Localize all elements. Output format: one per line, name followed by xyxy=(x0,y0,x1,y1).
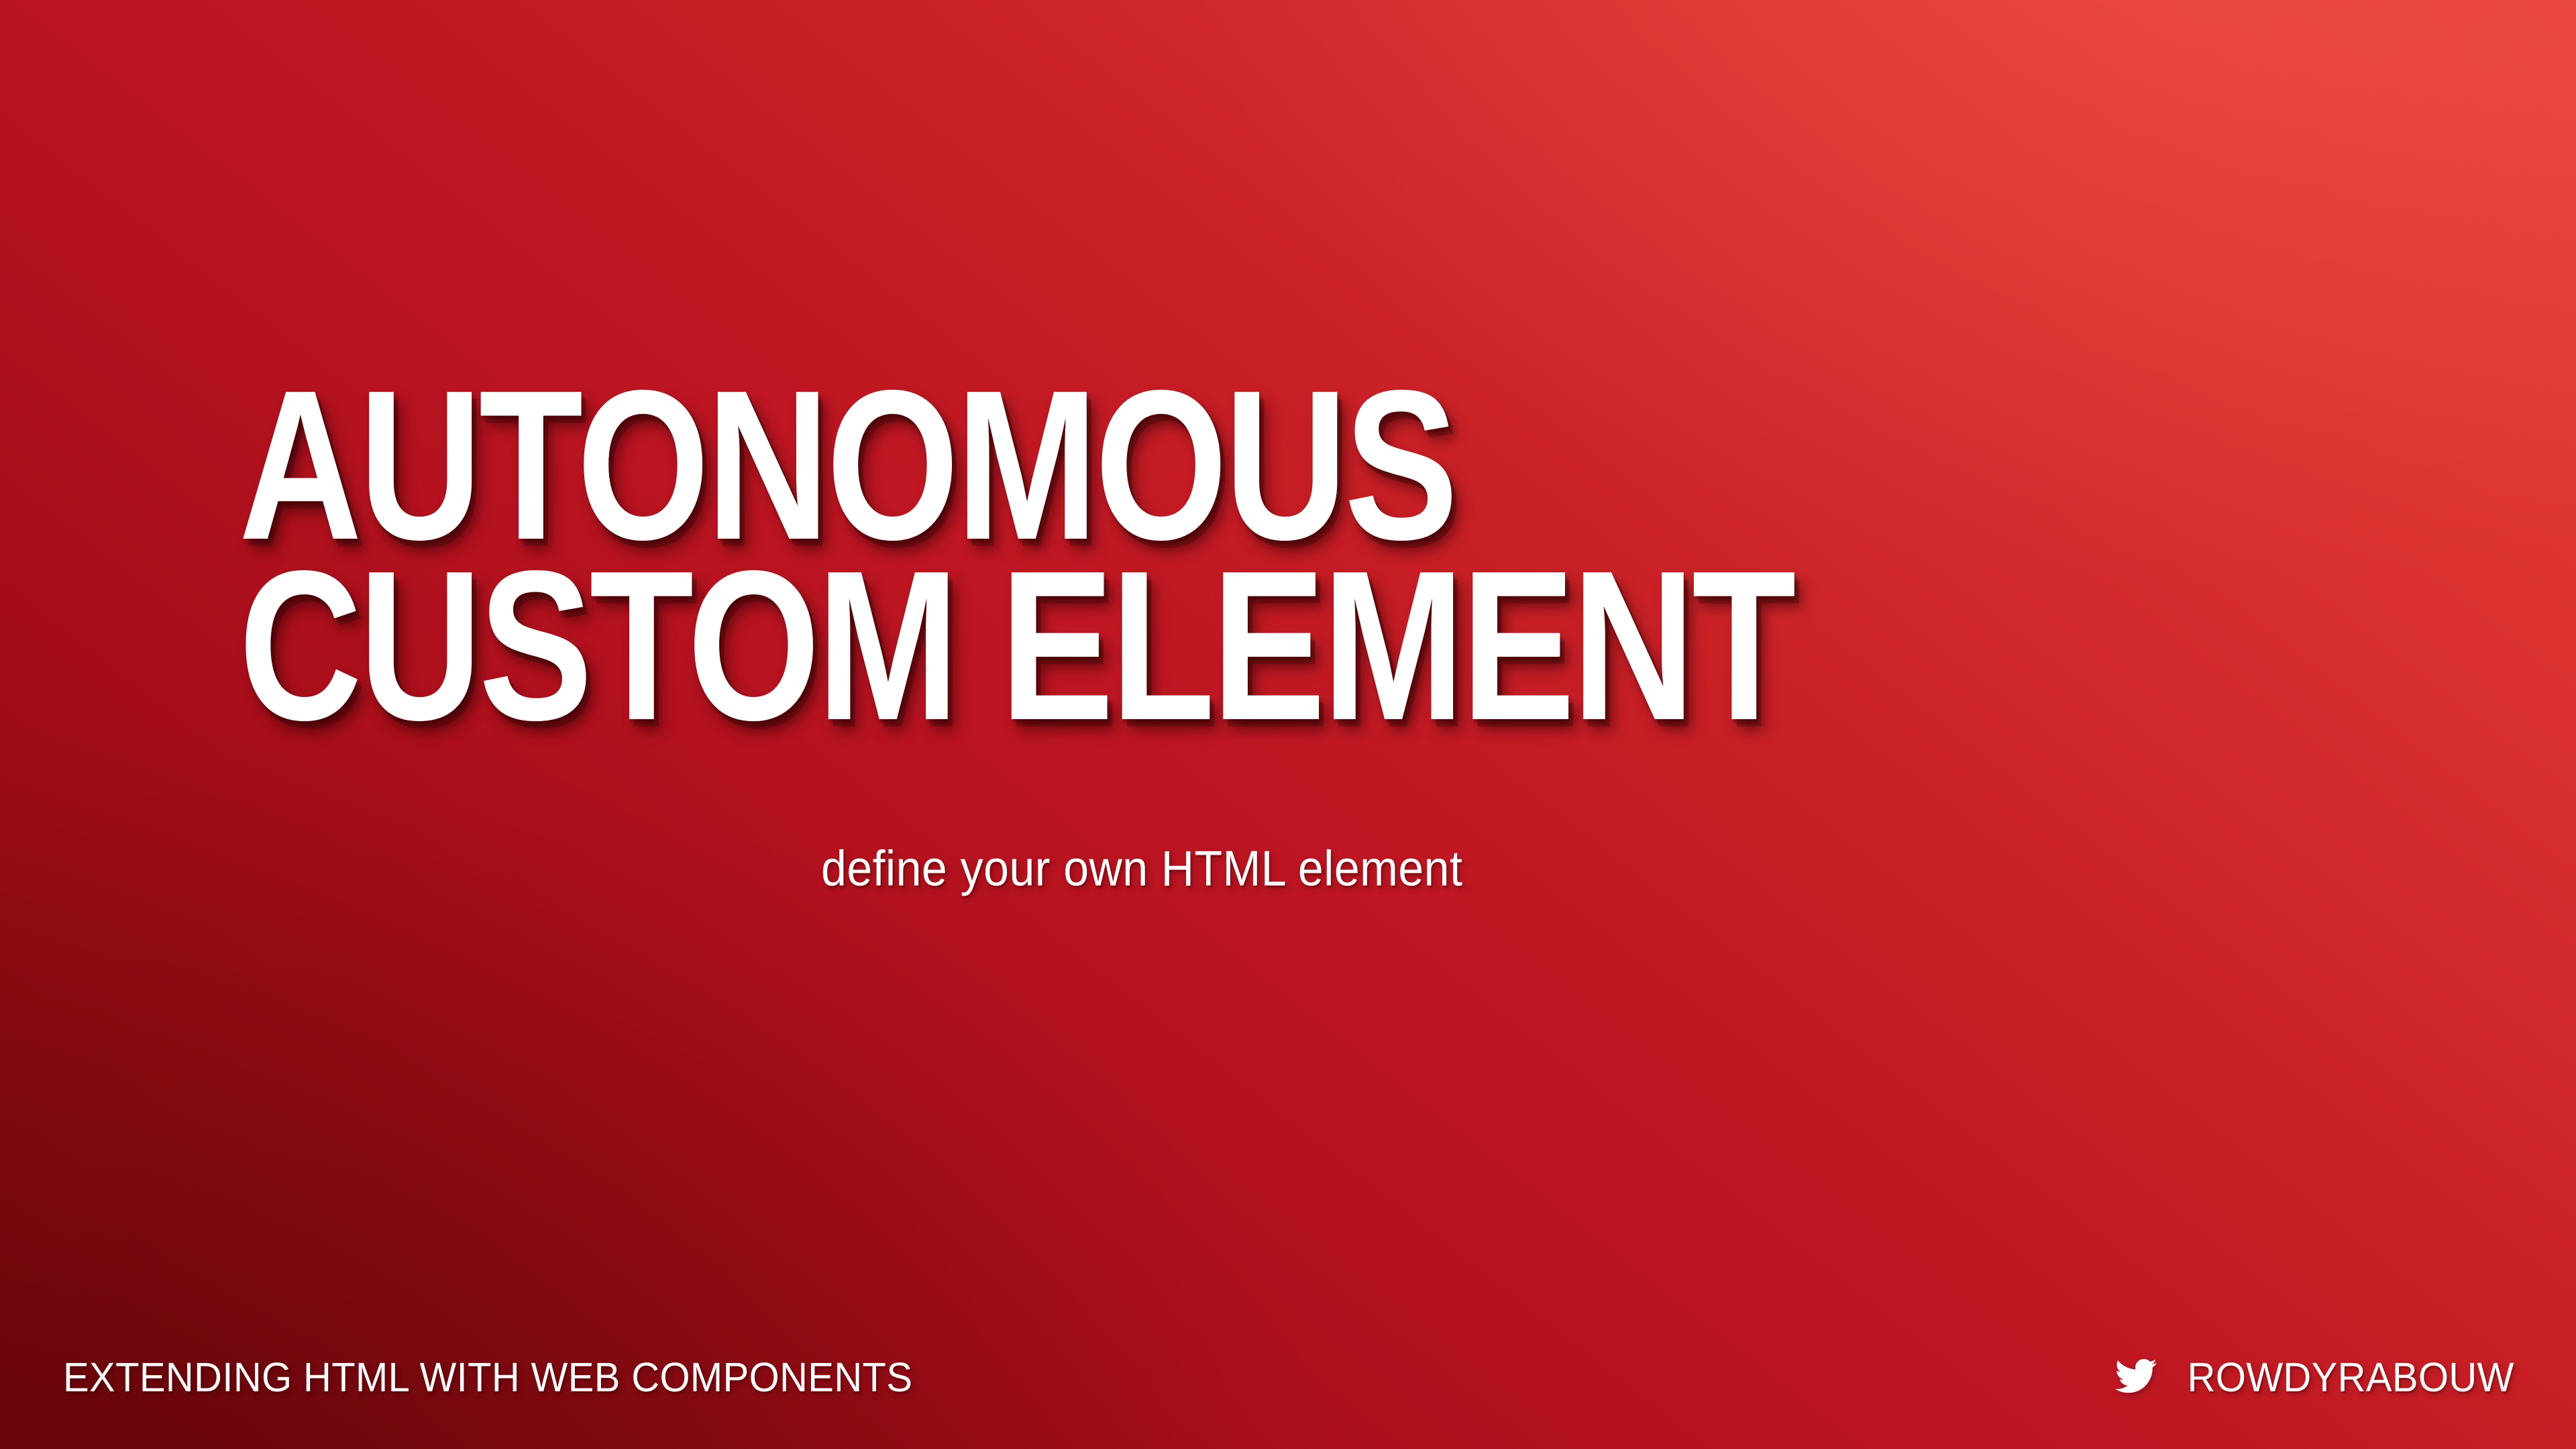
slide-subtitle: define your own HTML element xyxy=(821,840,1462,897)
headline-line-2: CUSTOM ELEMENT xyxy=(239,556,1956,737)
slide-content: AUTONOMOUS CUSTOM ELEMENT define your ow… xyxy=(0,0,2576,1449)
slide-headline: AUTONOMOUS CUSTOM ELEMENT xyxy=(239,376,2385,736)
presentation-slide: AUTONOMOUS CUSTOM ELEMENT define your ow… xyxy=(0,0,2576,1449)
footer-talk-title: EXTENDING HTML WITH WEB COMPONENTS xyxy=(63,1354,912,1401)
twitter-bird-icon xyxy=(2115,1355,2157,1397)
footer-social: ROWDYRABOUW xyxy=(2115,1354,2514,1401)
twitter-handle: ROWDYRABOUW xyxy=(2188,1354,2514,1401)
